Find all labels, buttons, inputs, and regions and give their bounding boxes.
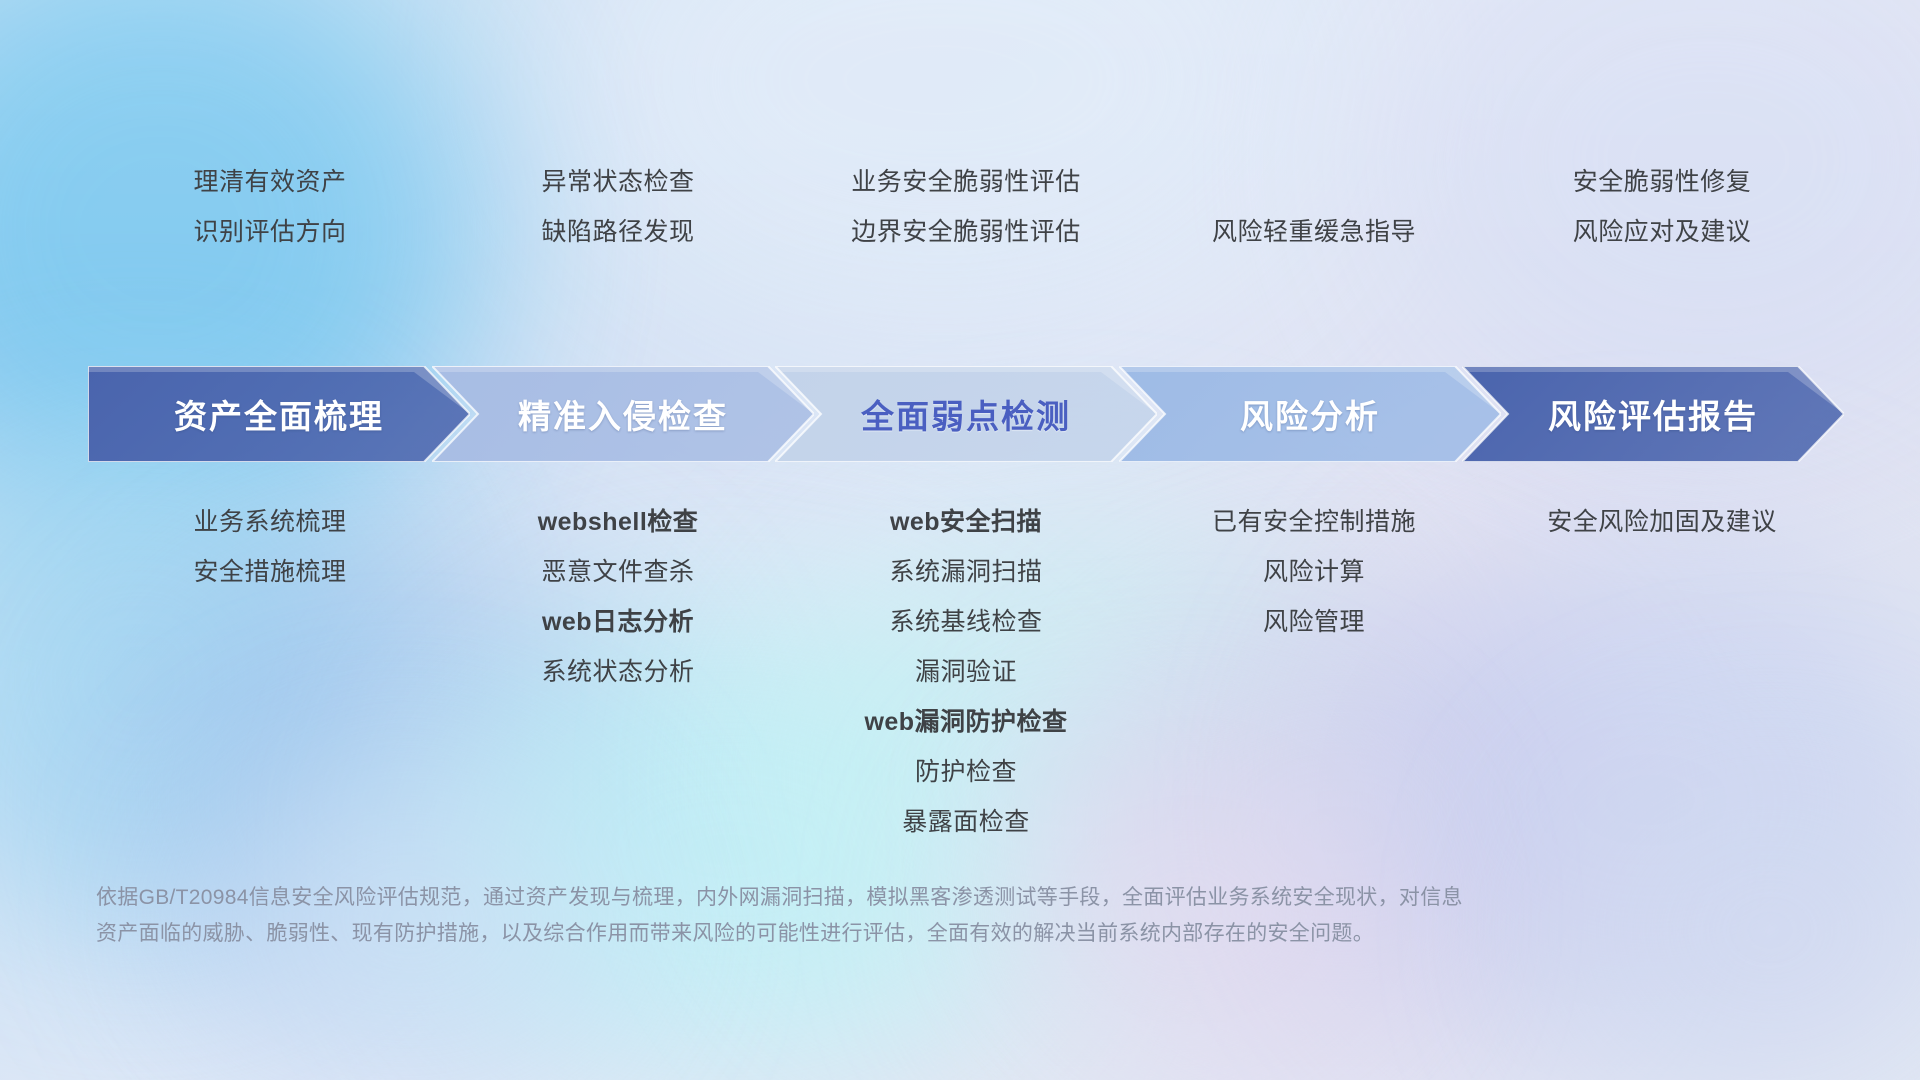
stage-label: 精准入侵检查 xyxy=(518,390,728,438)
process-stage-asset-inventory[interactable]: 资产全面梳理 xyxy=(88,366,470,462)
stage-output-item: web安全扫描 xyxy=(890,510,1042,535)
process-chevron-banner: 资产全面梳理精准入侵检查全面弱点检测风险分析风险评估报告 xyxy=(88,366,1844,462)
footer-description: 依据GB/T20984信息安全风险评估规范，通过资产发现与梳理，内外网漏洞扫描，… xyxy=(96,880,1736,952)
stage-input-item: 安全脆弱性修复 xyxy=(1573,170,1752,195)
footer-line-2: 资产面临的威胁、脆弱性、现有防护措施，以及综合作用而带来风险的可能性进行评估，全… xyxy=(96,916,1736,952)
footer-line-1: 依据GB/T20984信息安全风险评估规范，通过资产发现与梳理，内外网漏洞扫描，… xyxy=(96,880,1736,916)
stage-output-item: 安全措施梳理 xyxy=(193,560,346,585)
stage-output-item: 安全风险加固及建议 xyxy=(1547,510,1777,535)
process-stage-intrusion-check[interactable]: 精准入侵检查 xyxy=(432,366,814,462)
stage-output-item: 风险计算 xyxy=(1263,560,1365,585)
stage-inputs-row: 理清有效资产识别评估方向异常状态检查缺陷路径发现业务安全脆弱性评估边界安全脆弱性… xyxy=(96,170,1836,320)
stage-outputs-weakness-detection: web安全扫描系统漏洞扫描系统基线检查漏洞验证web漏洞防护检查防护检查暴露面检… xyxy=(792,510,1140,860)
stage-output-item: 系统漏洞扫描 xyxy=(889,560,1042,585)
stage-label: 风险评估报告 xyxy=(1548,390,1758,438)
stage-output-item: web日志分析 xyxy=(542,610,694,635)
stage-inputs-assessment-report: 安全脆弱性修复风险应对及建议 xyxy=(1488,170,1836,320)
stage-input-item: 业务安全脆弱性评估 xyxy=(851,170,1081,195)
stage-input-item: 缺陷路径发现 xyxy=(541,220,694,245)
process-stage-assessment-report[interactable]: 风险评估报告 xyxy=(1462,366,1844,462)
stage-outputs-asset-inventory: 业务系统梳理安全措施梳理 xyxy=(96,510,444,860)
stage-output-item: 风险管理 xyxy=(1263,610,1365,635)
stage-input-item: 风险应对及建议 xyxy=(1573,220,1752,245)
stage-output-item: 恶意文件查杀 xyxy=(541,560,694,585)
stage-label: 风险分析 xyxy=(1240,390,1380,438)
stage-inputs-intrusion-check: 异常状态检查缺陷路径发现 xyxy=(444,170,792,320)
stage-label: 资产全面梳理 xyxy=(174,390,384,438)
stage-outputs-row: 业务系统梳理安全措施梳理webshell检查恶意文件查杀web日志分析系统状态分… xyxy=(96,510,1836,860)
stage-output-item: webshell检查 xyxy=(538,510,699,535)
stage-label: 全面弱点检测 xyxy=(861,390,1071,438)
stage-outputs-risk-analysis: 已有安全控制措施风险计算风险管理 xyxy=(1140,510,1488,860)
stage-outputs-assessment-report: 安全风险加固及建议 xyxy=(1488,510,1836,860)
process-stage-weakness-detection[interactable]: 全面弱点检测 xyxy=(775,366,1157,462)
stage-inputs-weakness-detection: 业务安全脆弱性评估边界安全脆弱性评估 xyxy=(792,170,1140,320)
stage-input-item: 风险轻重缓急指导 xyxy=(1212,220,1416,245)
stage-output-item: web漏洞防护检查 xyxy=(864,710,1067,735)
stage-output-item: 已有安全控制措施 xyxy=(1212,510,1416,535)
stage-input-item: 边界安全脆弱性评估 xyxy=(851,220,1081,245)
stage-output-item: 暴露面检查 xyxy=(902,810,1030,835)
stage-output-item: 漏洞验证 xyxy=(915,660,1017,685)
stage-inputs-risk-analysis: 风险轻重缓急指导 xyxy=(1140,170,1488,320)
stage-input-item: 识别评估方向 xyxy=(193,220,346,245)
process-stage-risk-analysis[interactable]: 风险分析 xyxy=(1119,366,1501,462)
stage-inputs-asset-inventory: 理清有效资产识别评估方向 xyxy=(96,170,444,320)
stage-output-item: 系统状态分析 xyxy=(541,660,694,685)
process-diagram: 理清有效资产识别评估方向异常状态检查缺陷路径发现业务安全脆弱性评估边界安全脆弱性… xyxy=(0,0,1920,1080)
stage-input-item: 异常状态检查 xyxy=(541,170,694,195)
stage-output-item: 系统基线检查 xyxy=(889,610,1042,635)
stage-output-item: 防护检查 xyxy=(915,760,1017,785)
stage-input-item: 理清有效资产 xyxy=(193,170,346,195)
stage-outputs-intrusion-check: webshell检查恶意文件查杀web日志分析系统状态分析 xyxy=(444,510,792,860)
stage-output-item: 业务系统梳理 xyxy=(193,510,346,535)
